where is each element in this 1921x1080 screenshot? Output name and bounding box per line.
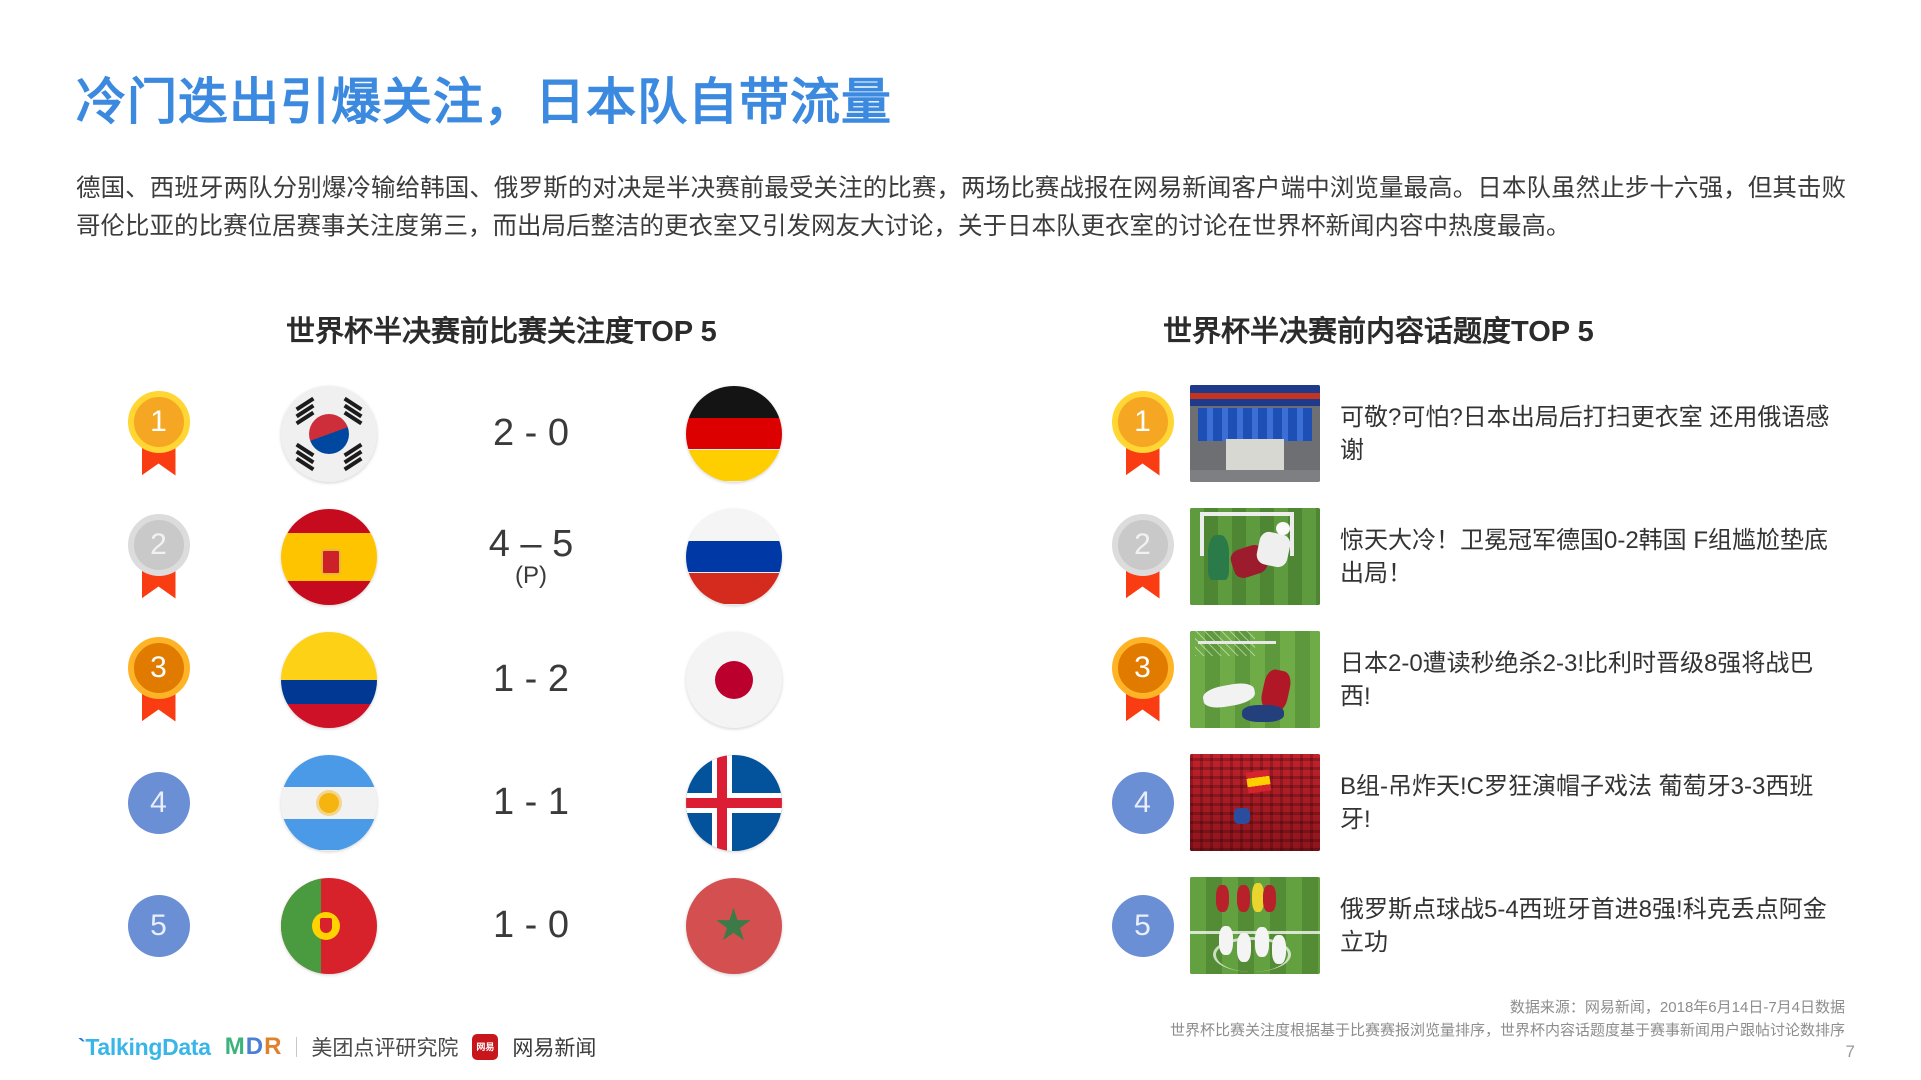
page-number: 7	[1846, 1042, 1855, 1062]
match-score: 2 - 0	[416, 413, 646, 454]
match-score: 1 - 0	[416, 905, 646, 946]
rank-number: 2	[1112, 514, 1174, 576]
divider	[296, 1037, 297, 1057]
list-item[interactable]: 3 日本2-0遭读秒绝杀2-3!比利时晋级8强将战巴西!	[1095, 618, 1885, 741]
away-flag-cell	[646, 632, 821, 728]
japan-flag-icon	[686, 632, 782, 728]
topic-headline[interactable]: B组-吊炸天!C罗狂演帽子戏法 葡萄牙3-3西班牙!	[1340, 770, 1840, 836]
score-text: 1 - 2	[493, 658, 569, 700]
rank-number: 1	[128, 391, 190, 453]
rank-cell: 3	[76, 637, 241, 723]
rising-sun-icon	[715, 661, 753, 699]
away-flag-cell	[646, 878, 821, 974]
home-flag-cell	[241, 386, 416, 482]
japan-belgium-match-photo	[1190, 631, 1320, 728]
rank-cell: 1	[1095, 391, 1190, 477]
rank-cell: 2	[1095, 514, 1190, 600]
germany-korea-match-photo	[1190, 508, 1320, 605]
score-text: 1 - 0	[493, 904, 569, 946]
slide: 冷门迭出引爆关注，日本队自带流量 德国、西班牙两队分别爆冷输给韩国、俄罗斯的对决…	[0, 0, 1921, 1080]
germany-flag-icon	[686, 386, 782, 482]
topic-ranking-list: 1 可敬?可怕?日本出局后打扫更衣室 还用俄语感谢 2 惊天大冷！	[1095, 372, 1885, 987]
source-line-2: 世界杯比赛关注度根据基于比赛赛报浏览量排序，世界杯内容话题度基于赛事新闻用户跟帖…	[1170, 1019, 1845, 1042]
iceland-flag-icon	[686, 755, 782, 851]
score-text: 4 – 5	[489, 523, 574, 565]
match-score: 1 - 2	[416, 659, 646, 700]
silver-medal-icon: 2	[128, 514, 190, 600]
russia-flag-icon	[686, 509, 782, 605]
away-flag-cell	[646, 509, 821, 605]
table-row[interactable]: 3 1 - 2	[76, 618, 1076, 741]
rank-badge: 5	[128, 895, 190, 957]
left-panel-heading: 世界杯半决赛前比赛关注度TOP 5	[286, 308, 717, 350]
away-flag-cell	[646, 755, 821, 851]
source-line-1: 数据来源：网易新闻，2018年6月14日-7月4日数据	[1170, 996, 1845, 1019]
score-text: 2 - 0	[493, 412, 569, 454]
intro-paragraph: 德国、西班牙两队分别爆冷输给韩国、俄罗斯的对决是半决赛前最受关注的比赛，两场比赛…	[76, 170, 1846, 246]
list-item[interactable]: 1 可敬?可怕?日本出局后打扫更衣室 还用俄语感谢	[1095, 372, 1885, 495]
pentagram-icon	[716, 908, 752, 944]
rank-cell: 5	[1095, 895, 1190, 957]
rank-badge: 4	[1112, 772, 1174, 834]
match-ranking-list: 1	[76, 372, 1076, 987]
russia-celebration-photo	[1190, 877, 1320, 974]
topic-headline[interactable]: 惊天大冷！卫冕冠军德国0-2韩国 F组尴尬垫底出局！	[1340, 524, 1840, 590]
portugal-crest-icon	[312, 912, 340, 940]
mdr-logo: MDR	[225, 1033, 283, 1061]
match-score: 1 - 1	[416, 782, 646, 823]
match-score: 4 – 5 (P)	[416, 524, 646, 589]
netease-news-logo: 网易新闻	[512, 1032, 596, 1062]
table-row[interactable]: 5 1 - 0	[76, 864, 1076, 987]
korea-flag-icon	[281, 386, 377, 482]
page-title: 冷门迭出引爆关注，日本队自带流量	[76, 62, 892, 134]
score-note: (P)	[416, 563, 646, 589]
list-item[interactable]: 2 惊天大冷！卫冕冠军德国0-2韩国 F组尴尬垫底出局！	[1095, 495, 1885, 618]
logo-bar: `TalkingData MDR 美团点评研究院 网易 网易新闻	[78, 1032, 596, 1062]
away-flag-cell	[646, 386, 821, 482]
home-flag-cell	[241, 878, 416, 974]
list-item[interactable]: 5 俄罗斯点球战5-4西班牙首进8强!科克丢点阿金立功	[1095, 864, 1885, 987]
rank-cell: 4	[1095, 772, 1190, 834]
topic-headline[interactable]: 可敬?可怕?日本出局后打扫更衣室 还用俄语感谢	[1340, 401, 1840, 467]
talkingdata-logo: `TalkingData	[78, 1034, 211, 1061]
rank-cell: 3	[1095, 637, 1190, 723]
home-flag-cell	[241, 509, 416, 605]
gold-medal-icon: 1	[128, 391, 190, 477]
rank-badge: 4	[128, 772, 190, 834]
meituan-research-logo: 美团点评研究院	[311, 1032, 458, 1062]
rank-cell: 5	[76, 895, 241, 957]
score-text: 1 - 1	[493, 781, 569, 823]
spain-flag-icon	[281, 509, 377, 605]
table-row[interactable]: 1	[76, 372, 1076, 495]
spain-crest-icon	[321, 549, 341, 575]
bronze-medal-icon: 3	[1112, 637, 1174, 723]
colombia-flag-icon	[281, 632, 377, 728]
rank-number: 3	[1112, 637, 1174, 699]
table-row[interactable]: 2 4 – 5 (P)	[76, 495, 1076, 618]
netease-mark-icon: 网易	[472, 1034, 498, 1060]
locker-room-photo	[1190, 385, 1320, 482]
rank-badge: 5	[1112, 895, 1174, 957]
rank-number: 1	[1112, 391, 1174, 453]
bronze-medal-icon: 3	[128, 637, 190, 723]
topic-headline[interactable]: 俄罗斯点球战5-4西班牙首进8强!科克丢点阿金立功	[1340, 893, 1840, 959]
morocco-flag-icon	[686, 878, 782, 974]
sun-of-may-icon	[319, 793, 339, 813]
rank-number: 3	[128, 637, 190, 699]
table-row[interactable]: 4 1 - 1	[76, 741, 1076, 864]
rank-cell: 2	[76, 514, 241, 600]
gold-medal-icon: 1	[1112, 391, 1174, 477]
topic-headline[interactable]: 日本2-0遭读秒绝杀2-3!比利时晋级8强将战巴西!	[1340, 647, 1840, 713]
taegeuk-icon	[309, 414, 349, 454]
argentina-flag-icon	[281, 755, 377, 851]
home-flag-cell	[241, 632, 416, 728]
rank-cell: 4	[76, 772, 241, 834]
rank-cell: 1	[76, 391, 241, 477]
spain-fans-crowd-photo	[1190, 754, 1320, 851]
source-note: 数据来源：网易新闻，2018年6月14日-7月4日数据 世界杯比赛关注度根据基于…	[1170, 996, 1845, 1042]
rank-number: 2	[128, 514, 190, 576]
list-item[interactable]: 4 B组-吊炸天!C罗狂演帽子戏法 葡萄牙3-3西班牙!	[1095, 741, 1885, 864]
portugal-flag-icon	[281, 878, 377, 974]
silver-medal-icon: 2	[1112, 514, 1174, 600]
home-flag-cell	[241, 755, 416, 851]
right-panel-heading: 世界杯半决赛前内容话题度TOP 5	[1163, 308, 1594, 350]
